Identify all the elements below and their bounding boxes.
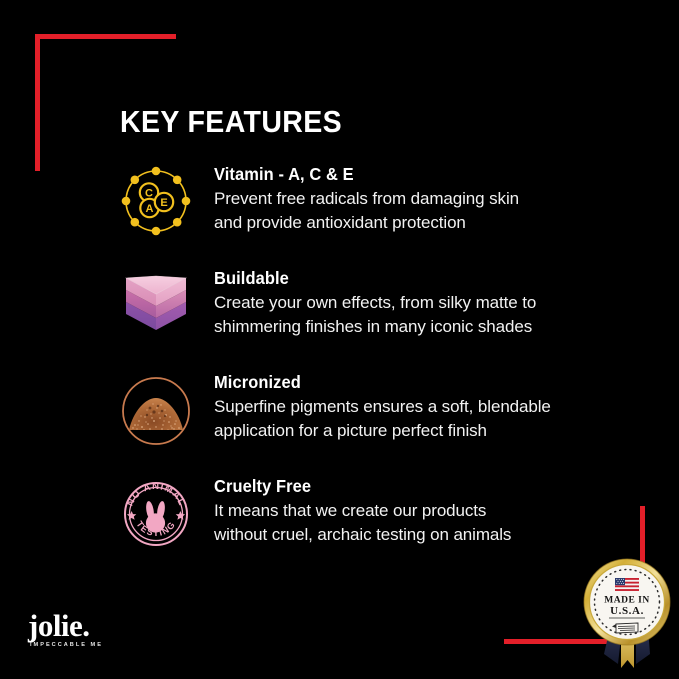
brand-logo: jolie. IMPECCABLE ME (28, 611, 158, 648)
feature-desc-line: without cruel, archaic testing on animal… (214, 523, 511, 546)
feature-desc-cruelty-free: It means that we create our products wit… (214, 499, 511, 546)
vitamin-molecule-icon: C A E (108, 162, 204, 240)
no-animal-testing-badge-icon: NO ANIMAL TESTING (108, 474, 204, 552)
feature-title-micronized: Micronized (214, 372, 531, 392)
layered-cube-icon (108, 266, 204, 344)
feature-text-vitamin: Vitamin - A, C & E Prevent free radicals… (204, 162, 519, 234)
feature-list: C A E Vitamin - A, C & E Prevent free ra… (108, 162, 648, 578)
feature-text-cruelty-free: Cruelty Free It means that we create our… (204, 474, 511, 546)
feature-title-buildable: Buildable (214, 268, 517, 288)
feature-desc-line: Prevent free radicals from damaging skin (214, 187, 519, 210)
feature-desc-micronized: Superfine pigments ensures a soft, blend… (214, 395, 551, 442)
feature-desc-buildable: Create your own effects, from silky matt… (214, 291, 536, 338)
feature-title-vitamin: Vitamin - A, C & E (214, 164, 501, 184)
feature-item-micronized: Micronized Superfine pigments ensures a … (108, 370, 648, 448)
vitamin-letter-c: C (145, 188, 153, 200)
vitamin-letter-e: E (160, 197, 167, 209)
feature-desc-line: application for a picture perfect finish (214, 419, 551, 442)
feature-desc-vitamin: Prevent free radicals from damaging skin… (214, 187, 519, 234)
poster-canvas: KEY FEATURES (0, 0, 679, 679)
seal-line-2: U.S.A. (610, 605, 644, 617)
svg-text:NO ANIMAL: NO ANIMAL (125, 481, 188, 508)
page-title: KEY FEATURES (120, 106, 342, 137)
feature-desc-line: and provide antioxidant protection (214, 211, 519, 234)
made-in-usa-seal: MADE IN U.S.A. (578, 556, 676, 674)
pigment-powder-pile-icon (108, 370, 204, 448)
feature-text-buildable: Buildable Create your own effects, from … (204, 266, 536, 338)
badge-top-text: NO ANIMAL (125, 481, 188, 508)
vitamin-letter-a: A (146, 203, 154, 215)
feature-title-cruelty-free: Cruelty Free (214, 476, 493, 496)
seal-line-1: MADE IN (604, 596, 649, 606)
logo-tagline: IMPECCABLE ME (30, 642, 158, 648)
feature-desc-line: Superfine pigments ensures a soft, blend… (214, 395, 551, 418)
feature-desc-line: Create your own effects, from silky matt… (214, 291, 536, 314)
feature-item-cruelty-free: NO ANIMAL TESTING (108, 474, 648, 552)
feature-text-micronized: Micronized Superfine pigments ensures a … (204, 370, 551, 442)
feature-item-buildable: Buildable Create your own effects, from … (108, 266, 648, 344)
corner-bracket-top-left-horizontal (35, 34, 176, 39)
feature-desc-line: shimmering finishes in many iconic shade… (214, 315, 536, 338)
logo-wordmark: jolie. (28, 611, 158, 640)
feature-item-vitamin: C A E Vitamin - A, C & E Prevent free ra… (108, 162, 648, 240)
corner-bracket-top-left-vertical (35, 34, 40, 171)
feature-desc-line: It means that we create our products (214, 499, 511, 522)
